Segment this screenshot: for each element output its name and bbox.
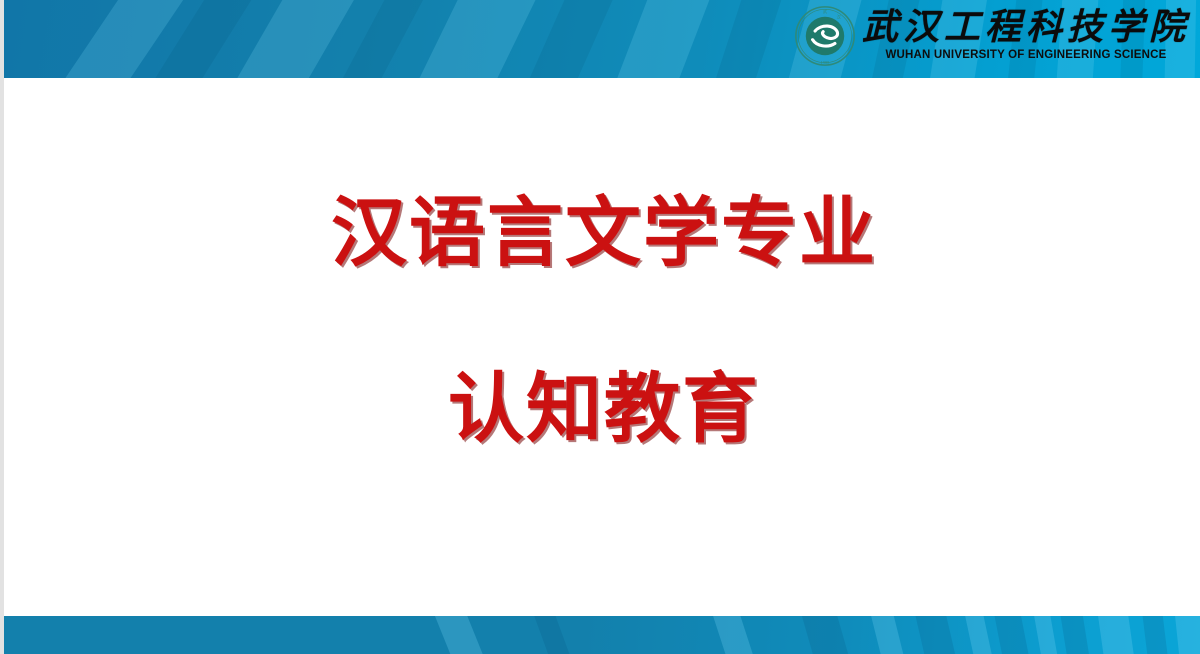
header-band: 武 汉 1988 武汉工程科技学院 WUHAN UNIVERSITY OF EN… (4, 0, 1200, 78)
presentation-slide: 武 汉 1988 武汉工程科技学院 WUHAN UNIVERSITY OF EN… (0, 0, 1200, 654)
svg-text:1988: 1988 (821, 60, 830, 65)
logo-text-block: 武汉工程科技学院 WUHAN UNIVERSITY OF ENGINEERING… (862, 5, 1190, 62)
slide-title-line-1: 汉语言文学专业 (4, 190, 1200, 276)
university-seal-emblem: 武 汉 1988 (794, 5, 856, 67)
svg-text:武: 武 (823, 8, 828, 14)
university-logo: 武 汉 1988 武汉工程科技学院 WUHAN UNIVERSITY OF EN… (794, 5, 1190, 73)
logo-english-name: WUHAN UNIVERSITY OF ENGINEERING SCIENCE (862, 48, 1190, 62)
logo-chinese-name: 武汉工程科技学院 (862, 7, 1190, 47)
slide-body: 汉语言文学专业 认知教育 (4, 78, 1200, 616)
svg-text:汉: 汉 (836, 14, 841, 21)
footer-ray-pattern (4, 616, 1200, 654)
footer-band (4, 616, 1200, 654)
slide-title-line-2: 认知教育 (4, 366, 1200, 452)
